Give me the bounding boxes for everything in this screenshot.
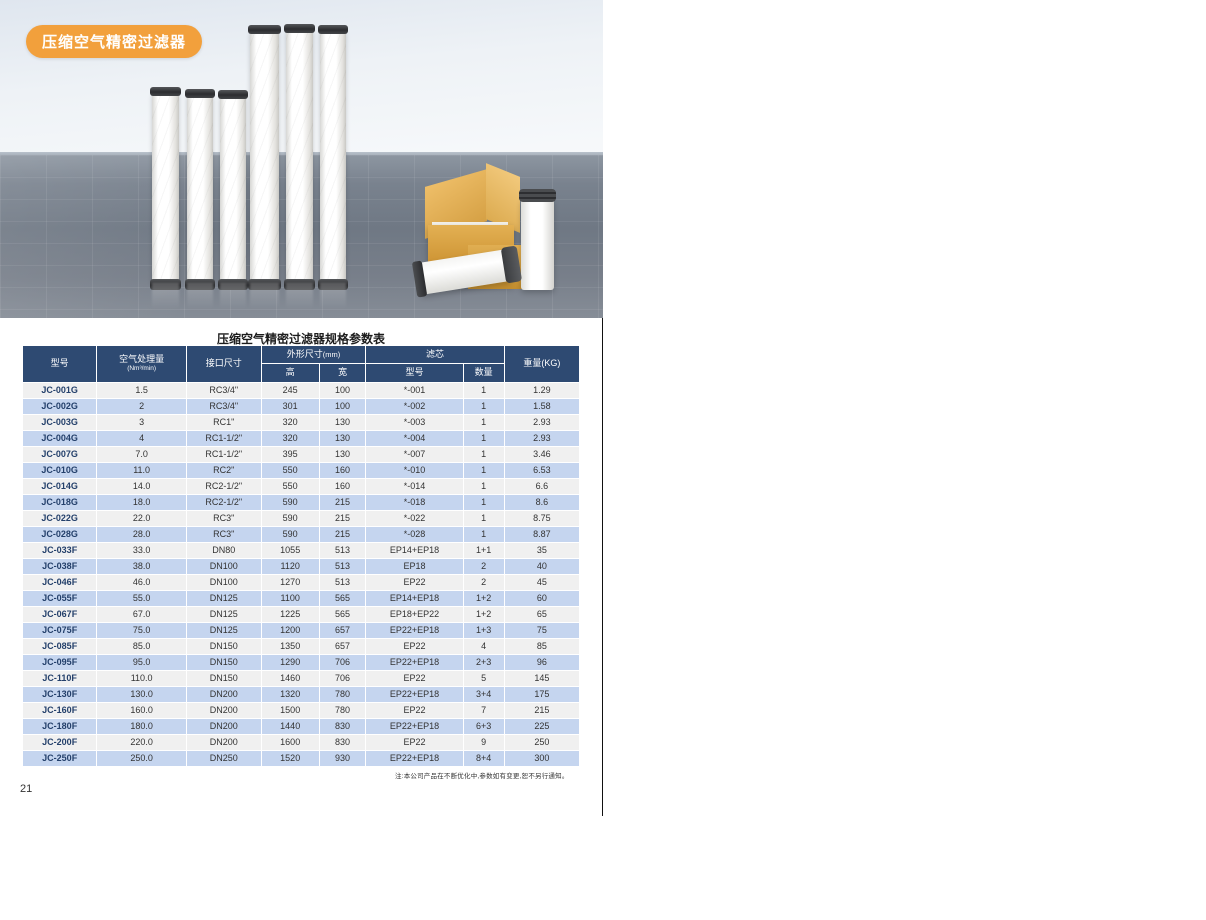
table-row: JC-007G7.0RC1-1/2"395130*-00713.46 <box>23 446 580 462</box>
cell-model: JC-067F <box>23 606 97 622</box>
cell-value: 2+3 <box>463 654 504 670</box>
cell-value: *-018 <box>366 494 463 510</box>
cell-value: 85 <box>504 638 579 654</box>
cell-value: 33.0 <box>97 542 187 558</box>
cell-value: 85.0 <box>97 638 187 654</box>
table-row: JC-018G18.0RC2-1/2"590215*-01818.6 <box>23 494 580 510</box>
cell-value: 4 <box>463 638 504 654</box>
cell-value: 95.0 <box>97 654 187 670</box>
cell-value: RC2-1/2" <box>186 478 261 494</box>
cell-value: 225 <box>504 718 579 734</box>
cell-value: 780 <box>319 702 366 718</box>
cell-value: 6.6 <box>504 478 579 494</box>
cell-value: 8.87 <box>504 526 579 542</box>
cell-value: 706 <box>319 654 366 670</box>
cell-value: 215 <box>319 526 366 542</box>
standing-cartridge <box>521 198 554 290</box>
table-row: JC-250F250.0DN2501520930EP22+EP188+4300 <box>23 750 580 766</box>
cell-model: JC-110F <box>23 670 97 686</box>
cell-value: DN200 <box>186 734 261 750</box>
cell-value: 160 <box>319 478 366 494</box>
table-row: JC-160F160.0DN2001500780EP227215 <box>23 702 580 718</box>
table-row: JC-085F85.0DN1501350657EP22485 <box>23 638 580 654</box>
cell-value: 1 <box>463 414 504 430</box>
cell-value: 130 <box>319 414 366 430</box>
cell-value: 8.6 <box>504 494 579 510</box>
cell-value: 395 <box>261 446 319 462</box>
cell-value: 513 <box>319 542 366 558</box>
table-row: JC-038F38.0DN1001120513EP18240 <box>23 558 580 574</box>
cell-value: 1.58 <box>504 398 579 414</box>
cell-value: 14.0 <box>97 478 187 494</box>
cell-model: JC-018G <box>23 494 97 510</box>
header-airflow: 空气处理量 (Nm³/min) <box>97 346 187 383</box>
cell-model: JC-055F <box>23 590 97 606</box>
header-height: 高 <box>261 364 319 382</box>
table-row: JC-028G28.0RC3"590215*-02818.87 <box>23 526 580 542</box>
cell-value: 657 <box>319 638 366 654</box>
cell-value: 1520 <box>261 750 319 766</box>
cell-value: 590 <box>261 526 319 542</box>
cell-value: 1320 <box>261 686 319 702</box>
cell-model: JC-028G <box>23 526 97 542</box>
table-row: JC-004G4RC1-1/2"320130*-00412.93 <box>23 430 580 446</box>
table-row: JC-200F220.0DN2001600830EP229250 <box>23 734 580 750</box>
cell-value: *-022 <box>366 510 463 526</box>
cell-value: DN80 <box>186 542 261 558</box>
table-row: JC-002G2RC3/4"301100*-00211.58 <box>23 398 580 414</box>
cell-value: 96 <box>504 654 579 670</box>
cell-model: JC-250F <box>23 750 97 766</box>
cell-value: RC2-1/2" <box>186 494 261 510</box>
cell-value: 130.0 <box>97 686 187 702</box>
cell-value: DN200 <box>186 686 261 702</box>
table-row: JC-180F180.0DN2001440830EP22+EP186+3225 <box>23 718 580 734</box>
cell-value: 1290 <box>261 654 319 670</box>
cell-value: 1120 <box>261 558 319 574</box>
cell-value: 9 <box>463 734 504 750</box>
cell-value: RC3" <box>186 510 261 526</box>
cell-value: 11.0 <box>97 462 187 478</box>
cell-value: DN100 <box>186 558 261 574</box>
cell-value: 100 <box>319 398 366 414</box>
cell-value: 550 <box>261 462 319 478</box>
header-airflow-label: 空气处理量 <box>119 354 164 364</box>
cell-value: EP22+EP18 <box>366 622 463 638</box>
cell-value: EP18+EP22 <box>366 606 463 622</box>
cell-value: 3.46 <box>504 446 579 462</box>
cell-model: JC-095F <box>23 654 97 670</box>
cell-value: EP14+EP18 <box>366 590 463 606</box>
cell-value: 250 <box>504 734 579 750</box>
cell-value: 28.0 <box>97 526 187 542</box>
cell-value: 3 <box>97 414 187 430</box>
header-element-qty: 数量 <box>463 364 504 382</box>
cell-value: 4 <box>97 430 187 446</box>
cell-value: 2 <box>97 398 187 414</box>
cell-value: 513 <box>319 574 366 590</box>
cell-model: JC-007G <box>23 446 97 462</box>
table-row: JC-001G1.5RC3/4"245100*-00111.29 <box>23 382 580 398</box>
cell-value: DN100 <box>186 574 261 590</box>
cell-value: 1 <box>463 526 504 542</box>
cell-value: EP22 <box>366 574 463 590</box>
cell-value: 22.0 <box>97 510 187 526</box>
cell-value: DN200 <box>186 718 261 734</box>
cell-model: JC-038F <box>23 558 97 574</box>
specification-table: 型号 空气处理量 (Nm³/min) 接口尺寸 外形尺寸(mm) 滤芯 重量(K… <box>22 345 580 767</box>
cell-model: JC-022G <box>23 510 97 526</box>
header-element-model: 型号 <box>366 364 463 382</box>
cell-value: DN250 <box>186 750 261 766</box>
cell-model: JC-130F <box>23 686 97 702</box>
table-row: JC-130F130.0DN2001320780EP22+EP183+4175 <box>23 686 580 702</box>
cell-value: 300 <box>504 750 579 766</box>
right-page: 压缩空气精密过滤器 过滤等级 过滤器名称 过滤器类型 固体颗粒去除 (包括水和油… <box>603 0 1206 816</box>
cell-value: 1460 <box>261 670 319 686</box>
cell-value: EP22 <box>366 734 463 750</box>
cell-value: 1200 <box>261 622 319 638</box>
cell-model: JC-004G <box>23 430 97 446</box>
cell-value: 75 <box>504 622 579 638</box>
cell-value: DN125 <box>186 606 261 622</box>
cell-model: JC-075F <box>23 622 97 638</box>
cell-value: DN125 <box>186 622 261 638</box>
table-row: JC-033F33.0DN801055513EP14+EP181+135 <box>23 542 580 558</box>
cell-value: 65 <box>504 606 579 622</box>
cell-value: 38.0 <box>97 558 187 574</box>
cell-value: 1 <box>463 382 504 398</box>
cell-value: 215 <box>504 702 579 718</box>
table-row: JC-067F67.0DN1251225565EP18+EP221+265 <box>23 606 580 622</box>
cell-value: 2.93 <box>504 430 579 446</box>
cell-value: 301 <box>261 398 319 414</box>
cell-value: DN200 <box>186 702 261 718</box>
cell-model: JC-046F <box>23 574 97 590</box>
header-dimensions: 外形尺寸(mm) <box>261 346 366 364</box>
cell-value: RC1-1/2" <box>186 430 261 446</box>
cell-value: 1 <box>463 430 504 446</box>
cell-value: *-004 <box>366 430 463 446</box>
cell-value: 160.0 <box>97 702 187 718</box>
table-row: JC-095F95.0DN1501290706EP22+EP182+396 <box>23 654 580 670</box>
cell-value: 35 <box>504 542 579 558</box>
cell-value: EP22+EP18 <box>366 750 463 766</box>
cell-value: 2.93 <box>504 414 579 430</box>
table-row: JC-003G3RC1"320130*-00312.93 <box>23 414 580 430</box>
table-row: JC-075F75.0DN1251200657EP22+EP181+375 <box>23 622 580 638</box>
cell-value: 220.0 <box>97 734 187 750</box>
table-row: JC-046F46.0DN1001270513EP22245 <box>23 574 580 590</box>
cell-value: RC1" <box>186 414 261 430</box>
cell-value: 55.0 <box>97 590 187 606</box>
cell-value: RC3/4" <box>186 398 261 414</box>
cell-value: EP22+EP18 <box>366 686 463 702</box>
cell-value: *-014 <box>366 478 463 494</box>
cell-value: 1600 <box>261 734 319 750</box>
cell-value: 7.0 <box>97 446 187 462</box>
spec-table-body: JC-001G1.5RC3/4"245100*-00111.29JC-002G2… <box>23 382 580 766</box>
cell-value: EP22 <box>366 670 463 686</box>
cell-value: RC2" <box>186 462 261 478</box>
catalog-spread: 压缩空气精密过滤器 压缩空气精密过滤器规格参数表 型号 空气处理量 (Nm³/m… <box>0 0 1206 816</box>
left-page: 压缩空气精密过滤器 压缩空气精密过滤器规格参数表 型号 空气处理量 (Nm³/m… <box>0 0 603 816</box>
cell-value: *-003 <box>366 414 463 430</box>
cell-value: DN150 <box>186 638 261 654</box>
cell-value: 130 <box>319 446 366 462</box>
cell-value: 130 <box>319 430 366 446</box>
cell-value: EP22 <box>366 638 463 654</box>
header-dimensions-unit: (mm) <box>323 350 341 359</box>
cell-value: 513 <box>319 558 366 574</box>
header-element: 滤芯 <box>366 346 504 364</box>
table-row: JC-010G11.0RC2"550160*-01016.53 <box>23 462 580 478</box>
cell-value: 565 <box>319 606 366 622</box>
cell-value: 706 <box>319 670 366 686</box>
cell-value: 1 <box>463 398 504 414</box>
footnote-left: 注:本公司产品在不断优化中,参数如有变更,恕不另行通知。 <box>395 770 569 780</box>
page-title-badge-left: 压缩空气精密过滤器 <box>26 25 202 58</box>
cell-value: 1 <box>463 478 504 494</box>
table-row: JC-110F110.0DN1501460706EP225145 <box>23 670 580 686</box>
cell-value: 1270 <box>261 574 319 590</box>
cell-value: 7 <box>463 702 504 718</box>
cell-value: 1225 <box>261 606 319 622</box>
cell-value: 1100 <box>261 590 319 606</box>
cell-value: 180.0 <box>97 718 187 734</box>
header-airflow-unit: (Nm³/min) <box>99 365 184 373</box>
cell-value: 100 <box>319 382 366 398</box>
cell-value: *-010 <box>366 462 463 478</box>
cell-value: 830 <box>319 734 366 750</box>
cell-value: 1 <box>463 510 504 526</box>
cell-value: 3+4 <box>463 686 504 702</box>
cell-value: DN125 <box>186 590 261 606</box>
cell-model: JC-160F <box>23 702 97 718</box>
cell-value: 110.0 <box>97 670 187 686</box>
filter-cartridge <box>286 30 313 283</box>
cell-value: 45 <box>504 574 579 590</box>
cell-model: JC-180F <box>23 718 97 734</box>
cell-value: 2 <box>463 558 504 574</box>
cell-value: 1+3 <box>463 622 504 638</box>
cell-value: 930 <box>319 750 366 766</box>
cell-model: JC-200F <box>23 734 97 750</box>
cell-value: 1055 <box>261 542 319 558</box>
cell-value: *-002 <box>366 398 463 414</box>
cell-value: 18.0 <box>97 494 187 510</box>
cell-value: 46.0 <box>97 574 187 590</box>
cell-value: RC1-1/2" <box>186 446 261 462</box>
cell-model: JC-001G <box>23 382 97 398</box>
cell-value: 145 <box>504 670 579 686</box>
cell-value: 830 <box>319 718 366 734</box>
cell-value: 40 <box>504 558 579 574</box>
cell-value: 1+2 <box>463 590 504 606</box>
cell-value: *-028 <box>366 526 463 542</box>
cell-value: 1+1 <box>463 542 504 558</box>
header-port: 接口尺寸 <box>186 346 261 383</box>
cell-value: 215 <box>319 494 366 510</box>
cell-value: 1.29 <box>504 382 579 398</box>
cell-value: EP22+EP18 <box>366 654 463 670</box>
cell-value: RC3/4" <box>186 382 261 398</box>
cell-value: *-001 <box>366 382 463 398</box>
cell-value: 1 <box>463 462 504 478</box>
cell-value: 1+2 <box>463 606 504 622</box>
cell-value: *-007 <box>366 446 463 462</box>
filter-cartridge <box>220 96 246 283</box>
cell-model: JC-010G <box>23 462 97 478</box>
cell-value: 2 <box>463 574 504 590</box>
header-width: 宽 <box>319 364 366 382</box>
cell-value: 8.75 <box>504 510 579 526</box>
table-row: JC-014G14.0RC2-1/2"550160*-01416.6 <box>23 478 580 494</box>
cell-model: JC-085F <box>23 638 97 654</box>
table-row: JC-055F55.0DN1251100565EP14+EP181+260 <box>23 590 580 606</box>
cell-value: 6+3 <box>463 718 504 734</box>
filter-cartridge <box>320 31 346 283</box>
cell-value: 75.0 <box>97 622 187 638</box>
cell-value: 215 <box>319 510 366 526</box>
cell-value: 1500 <box>261 702 319 718</box>
cell-value: EP22+EP18 <box>366 718 463 734</box>
cell-value: 1350 <box>261 638 319 654</box>
header-model: 型号 <box>23 346 97 383</box>
cell-value: 565 <box>319 590 366 606</box>
table-row: JC-022G22.0RC3"590215*-02218.75 <box>23 510 580 526</box>
cell-value: 8+4 <box>463 750 504 766</box>
filter-cartridge <box>187 95 213 283</box>
cell-model: JC-003G <box>23 414 97 430</box>
filter-cartridge <box>250 31 279 283</box>
page-number-left: 21 <box>20 783 32 795</box>
cell-value: 160 <box>319 462 366 478</box>
cell-value: 67.0 <box>97 606 187 622</box>
cell-value: 550 <box>261 478 319 494</box>
cell-value: 590 <box>261 494 319 510</box>
cell-value: 5 <box>463 670 504 686</box>
cell-value: 320 <box>261 430 319 446</box>
cell-value: 590 <box>261 510 319 526</box>
cell-value: 250.0 <box>97 750 187 766</box>
cell-value: EP18 <box>366 558 463 574</box>
cell-value: 657 <box>319 622 366 638</box>
cell-model: JC-014G <box>23 478 97 494</box>
cell-value: 60 <box>504 590 579 606</box>
cell-value: EP14+EP18 <box>366 542 463 558</box>
header-weight: 重量(KG) <box>504 346 579 383</box>
cell-value: RC3" <box>186 526 261 542</box>
cell-value: DN150 <box>186 670 261 686</box>
cell-value: 175 <box>504 686 579 702</box>
cell-value: 780 <box>319 686 366 702</box>
cell-value: 245 <box>261 382 319 398</box>
cell-value: 1.5 <box>97 382 187 398</box>
cell-model: JC-033F <box>23 542 97 558</box>
cell-value: EP22 <box>366 702 463 718</box>
header-dimensions-label: 外形尺寸 <box>287 349 323 359</box>
cell-value: 320 <box>261 414 319 430</box>
filter-cartridge <box>152 93 179 283</box>
cell-value: 1 <box>463 446 504 462</box>
cell-model: JC-002G <box>23 398 97 414</box>
cell-value: 1440 <box>261 718 319 734</box>
spec-header-row-1: 型号 空气处理量 (Nm³/min) 接口尺寸 外形尺寸(mm) 滤芯 重量(K… <box>23 346 580 364</box>
cell-value: DN150 <box>186 654 261 670</box>
cell-value: 1 <box>463 494 504 510</box>
cell-value: 6.53 <box>504 462 579 478</box>
